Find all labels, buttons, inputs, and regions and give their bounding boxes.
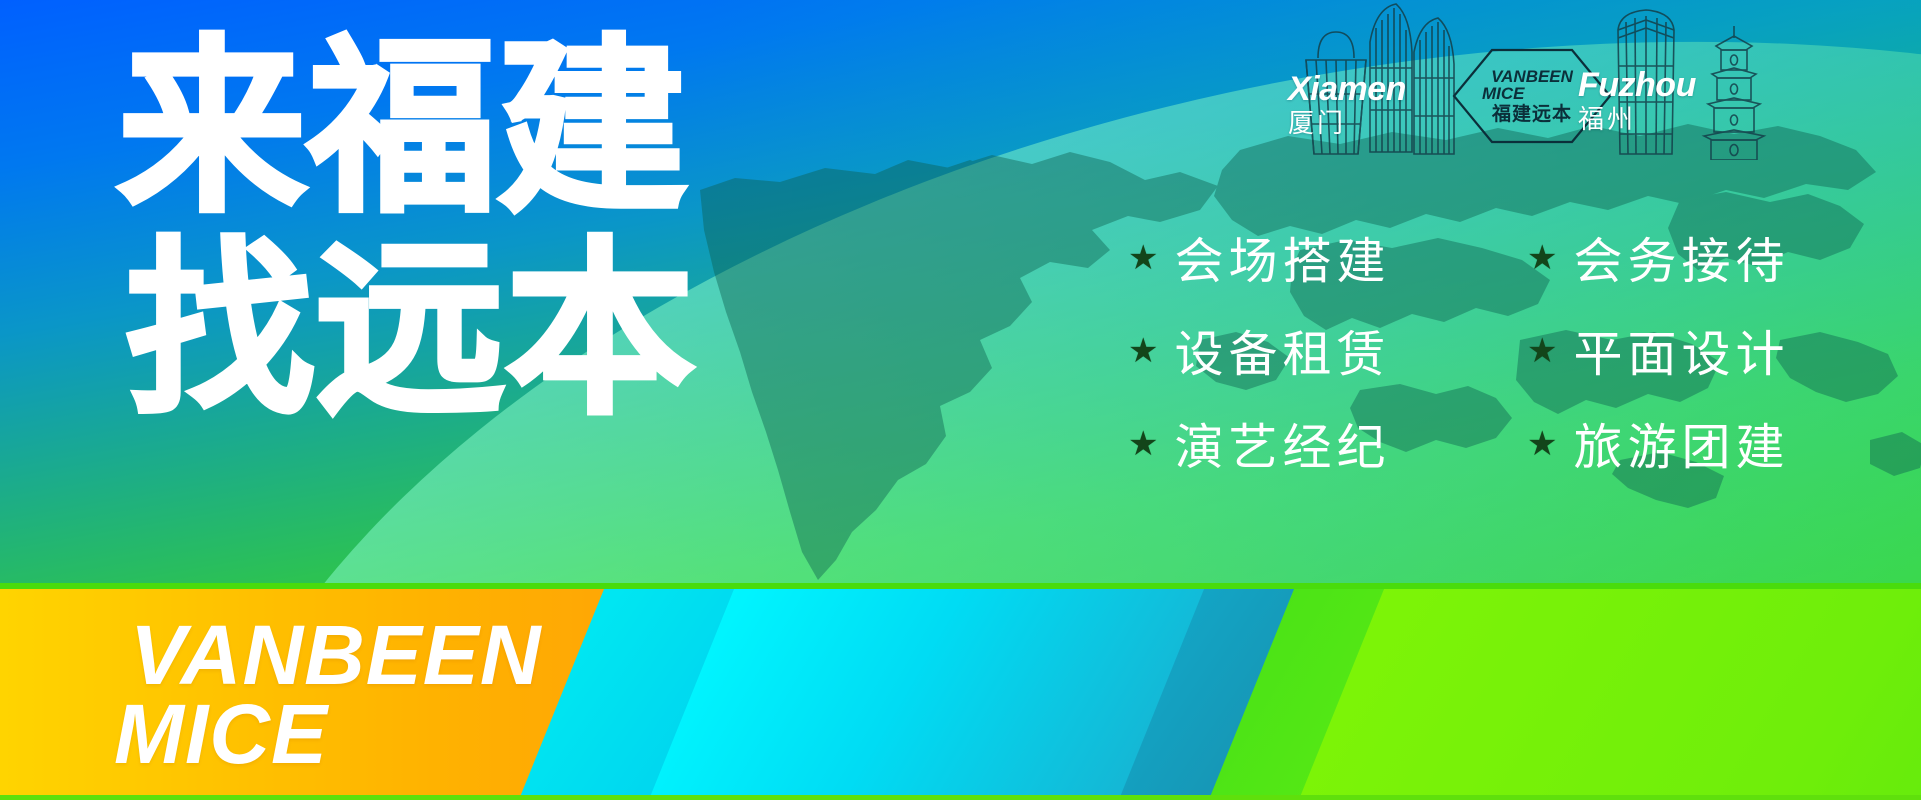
service-label: 平面设计 <box>1573 315 1789 386</box>
service-label: 设备租赁 <box>1174 315 1390 386</box>
city-name-cn: 福州 <box>1578 106 1696 132</box>
star-icon: ★ <box>1128 334 1158 368</box>
bottom-edge-line <box>0 795 1921 800</box>
service-label: 会场搭建 <box>1174 222 1390 293</box>
service-label: 会务接待 <box>1573 222 1789 293</box>
service-item[interactable]: ★ 旅游团建 <box>1527 408 1908 479</box>
star-icon: ★ <box>1128 427 1158 461</box>
services-list: ★ 会场搭建 ★ 会务接待 ★ 设备租赁 ★ 平面设计 ★ 演艺经纪 ★ 旅游团… <box>1128 222 1908 479</box>
hex-logo-line-2: MICE <box>1482 85 1525 102</box>
headline: 来福建 找远本 <box>118 38 738 421</box>
bottom-brand-line-2: MICE <box>114 695 542 774</box>
headline-line-1: 来福建 <box>118 38 738 218</box>
service-item[interactable]: ★ 设备租赁 <box>1128 315 1509 386</box>
fuzhou-pagoda-icon <box>1692 26 1776 160</box>
main-panel: 来福建 找远本 ★ 会场搭建 ★ 会务接待 ★ 设备租赁 ★ 平面设计 ★ <box>0 0 1921 588</box>
hex-logo-line-3: 福建远本 <box>1492 105 1572 124</box>
city-name-cn: 厦门 <box>1288 110 1406 136</box>
service-label: 演艺经纪 <box>1174 408 1390 479</box>
service-item[interactable]: ★ 演艺经纪 <box>1128 408 1509 479</box>
service-item[interactable]: ★ 会务接待 <box>1527 222 1908 293</box>
green-divider <box>0 583 1921 589</box>
bottom-brand-line-1: VANBEEN <box>130 616 542 695</box>
star-icon: ★ <box>1128 241 1158 275</box>
star-icon: ★ <box>1527 427 1557 461</box>
city-landmark-cluster: Xiamen 厦门 VANBEEN MICE 福建远本 <box>1300 0 1860 175</box>
bottom-brand-bar: VANBEEN MICE <box>0 588 1921 800</box>
city-label-fuzhou: Fuzhou 福州 <box>1578 68 1696 132</box>
city-label-xiamen: Xiamen 厦门 <box>1288 72 1406 136</box>
service-item[interactable]: ★ 平面设计 <box>1527 315 1908 386</box>
diagonal-slab-green-bright <box>1283 588 1921 800</box>
star-icon: ★ <box>1527 334 1557 368</box>
hex-logo-line-1: VANBEEN <box>1491 68 1573 85</box>
service-item[interactable]: ★ 会场搭建 <box>1128 222 1509 293</box>
city-name-en: Fuzhou <box>1578 68 1696 102</box>
diagonal-slab-cyan-bright <box>633 588 1216 800</box>
bottom-brand-text: VANBEEN MICE <box>130 616 542 774</box>
star-icon: ★ <box>1527 241 1557 275</box>
city-name-en: Xiamen <box>1288 72 1406 106</box>
headline-line-2: 找远本 <box>126 240 738 420</box>
service-label: 旅游团建 <box>1573 408 1789 479</box>
banner-root: 来福建 找远本 ★ 会场搭建 ★ 会务接待 ★ 设备租赁 ★ 平面设计 ★ <box>0 0 1921 800</box>
